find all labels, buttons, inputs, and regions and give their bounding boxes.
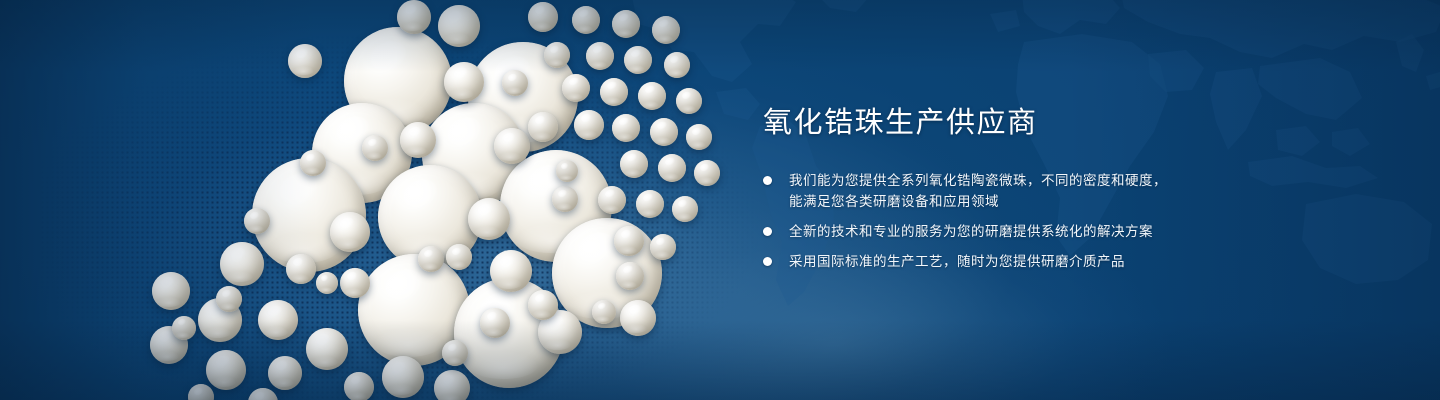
- list-item-line-1: 采用国际标准的生产工艺，随时为您提供研磨介质产品: [789, 254, 1125, 269]
- page-title: 氧化锆珠生产供应商: [763, 108, 1383, 140]
- list-item-line-1: 全新的技术和专业的服务为您的研磨提供系统化的解决方案: [789, 224, 1153, 239]
- list-item: 全新的技术和专业的服务为您的研磨提供系统化的解决方案: [763, 221, 1383, 242]
- list-item: 采用国际标准的生产工艺，随时为您提供研磨介质产品: [763, 251, 1383, 272]
- list-item: 我们能为您提供全系列氧化锆陶瓷微珠，不同的密度和硬度， 能满足您各类研磨设备和应…: [763, 170, 1383, 212]
- list-item-line-2: 能满足您各类研磨设备和应用领域: [789, 191, 1383, 212]
- hero-copy: 氧化锆珠生产供应商 我们能为您提供全系列氧化锆陶瓷微珠，不同的密度和硬度， 能满…: [763, 108, 1383, 272]
- feature-list: 我们能为您提供全系列氧化锆陶瓷微珠，不同的密度和硬度， 能满足您各类研磨设备和应…: [763, 170, 1383, 272]
- bullet-dot-icon: [763, 257, 772, 266]
- bullet-dot-icon: [763, 176, 772, 185]
- hero-banner: 氧化锆珠生产供应商 我们能为您提供全系列氧化锆陶瓷微珠，不同的密度和硬度， 能满…: [0, 0, 1440, 400]
- list-item-line-1: 我们能为您提供全系列氧化锆陶瓷微珠，不同的密度和硬度，: [789, 173, 1167, 188]
- bullet-dot-icon: [763, 227, 772, 236]
